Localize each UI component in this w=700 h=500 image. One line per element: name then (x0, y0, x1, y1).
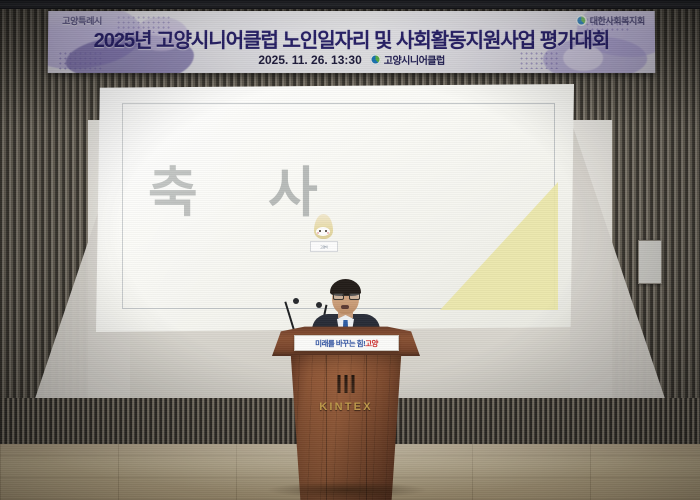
event-banner: 고양특례시 대한사회복지회 2025년 고양시니어클럽 노인일자리 및 사회활동… (48, 11, 656, 73)
speaker-glasses-bridge (342, 295, 349, 296)
podium-slogan-sign: 미래를 바꾸는 힘! 고양 (294, 335, 399, 351)
banner-club-logo: 고양시니어클럽 (370, 52, 445, 67)
mascot-cheek-left (317, 232, 319, 234)
mascot-body (314, 214, 333, 239)
wall-access-panel (638, 240, 662, 284)
presentation-photo-scene: 축 사 고양이 고양특례시 (0, 0, 700, 500)
podium-slogan-red: 고양 (365, 338, 378, 349)
banner-club-label: 고양시니어클럽 (384, 52, 445, 67)
banner-title: 2025년 고양시니어클럽 노인일자리 및 사회활동지원사업 평가대회 (48, 24, 655, 53)
podium-floor-shadow (268, 482, 426, 498)
mascot-character: 고양이 (310, 214, 336, 252)
kintex-bars-icon (338, 375, 355, 393)
mascot-face (316, 227, 330, 236)
podium-seam-left (326, 355, 327, 500)
podium-front-panel: KINTEX (286, 355, 406, 500)
banner-subline: 2025. 11. 26. 13:30 고양시니어클럽 (48, 52, 655, 67)
slide-word-sa: 사 (268, 166, 318, 220)
kintex-bar-2 (345, 375, 348, 393)
podium-seam-right (366, 355, 367, 500)
podium-slogan-blue: 미래를 바꾸는 힘! (315, 338, 365, 349)
senior-club-logo-icon (370, 54, 381, 65)
mascot-cheek-right (327, 232, 329, 234)
kintex-bar-1 (338, 375, 341, 393)
speaker-glasses-right-lens (349, 293, 360, 300)
kintex-wordmark: KINTEX (286, 401, 406, 413)
ceiling-strip (0, 0, 700, 9)
mascot-caption: 고양이 (310, 241, 338, 252)
mascot-eye-left (319, 230, 321, 232)
kintex-bar-3 (352, 375, 355, 393)
speaker-mouth (341, 305, 349, 309)
banner-date: 2025. 11. 26. 13:30 (258, 53, 362, 67)
slide-word-chuk: 축 (148, 166, 198, 220)
podium: 미래를 바꾸는 힘! 고양 KINTEX (272, 326, 420, 500)
microphone-head-left (293, 298, 299, 304)
